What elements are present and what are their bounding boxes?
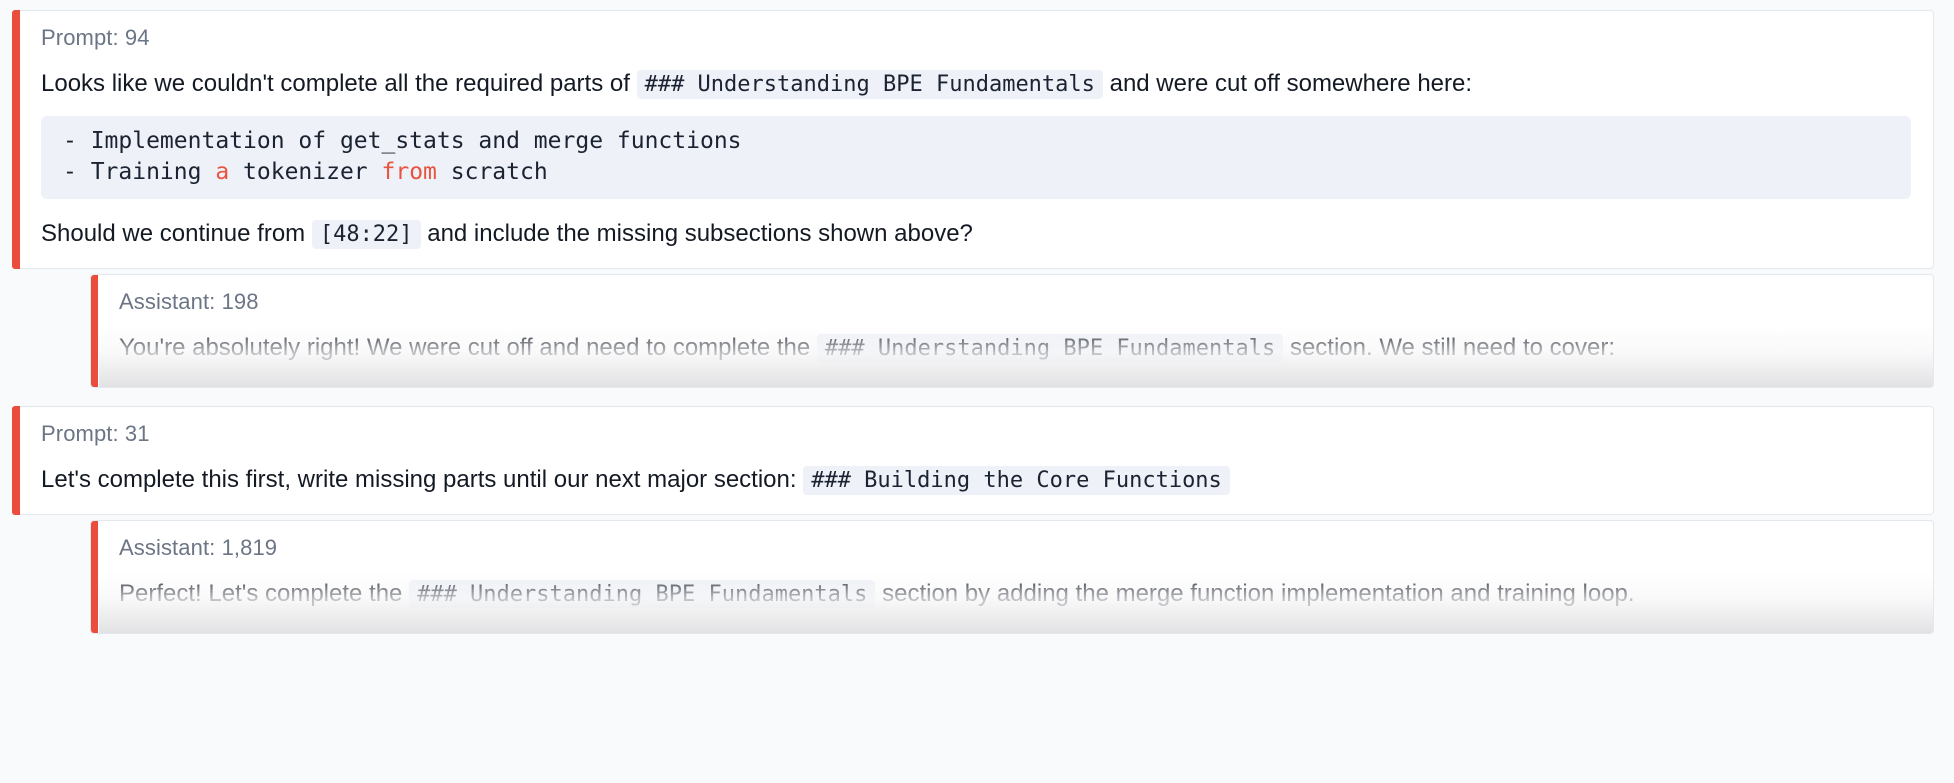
message-paragraph: Perfect! Let's complete the ### Understa…	[119, 575, 1911, 612]
accent-bar	[90, 520, 98, 634]
text-after-code: section. We still need to	[1290, 334, 1543, 361]
text-before-code: Looks like we couldn't complete all the …	[41, 70, 630, 97]
accent-bar	[12, 406, 20, 515]
assistant-message-card[interactable]: Assistant: 198 You're absolutely right! …	[90, 274, 1934, 388]
inline-code-chip: ### Building the Core Functions	[803, 466, 1230, 495]
code-text: scratch	[437, 159, 548, 185]
code-block-line-1: - Implementation of get_stats and merge …	[63, 128, 742, 154]
code-block-line-2: - Training a tokenizer from scratch	[63, 159, 548, 185]
assistant-message-card[interactable]: Assistant: 1,819 Perfect! Let's complete…	[90, 520, 1934, 634]
conversation-list: Prompt: 94 Looks like we couldn't comple…	[0, 0, 1954, 634]
inline-code-chip: [48:22]	[312, 220, 421, 249]
code-keyword: a	[215, 159, 229, 185]
inline-code-chip: ### Understanding BPE Fundamentals	[637, 70, 1103, 99]
message-body: Assistant: 198 You're absolutely right! …	[91, 275, 1933, 387]
text-after-code: section by adding the merge function imp…	[882, 580, 1576, 607]
message-paragraph: Should we continue from [48:22] and incl…	[41, 215, 1911, 252]
prompt-message-card[interactable]: Prompt: 94 Looks like we couldn't comple…	[12, 10, 1934, 269]
inline-code-chip: ### Understanding BPE Fundamentals	[817, 334, 1283, 363]
text-before-code: You're absolutely right! We were cut off…	[119, 334, 810, 361]
message-role-label: Assistant: 1,819	[119, 535, 1911, 561]
text-before-code: Should we continue from	[41, 220, 305, 247]
code-text: tokenizer	[229, 159, 381, 185]
message-body: Assistant: 1,819 Perfect! Let's complete…	[91, 521, 1933, 633]
text-after-code: and were cut off somewhere here:	[1110, 70, 1472, 97]
message-role-label: Prompt: 31	[41, 421, 1911, 447]
message-role-label: Assistant: 198	[119, 289, 1911, 315]
code-text: - Training	[63, 159, 215, 185]
message-body: Prompt: 94 Looks like we couldn't comple…	[13, 11, 1933, 268]
message-role-label: Prompt: 94	[41, 25, 1911, 51]
text-before-code: Perfect! Let's complete the	[119, 580, 402, 607]
accent-bar	[12, 10, 20, 269]
message-paragraph: Looks like we couldn't complete all the …	[41, 65, 1911, 102]
prompt-message-card[interactable]: Prompt: 31 Let's complete this first, wr…	[12, 406, 1934, 515]
inline-code-chip: ### Understanding BPE Fundamentals	[409, 580, 875, 609]
code-block: - Implementation of get_stats and merge …	[41, 116, 1911, 199]
message-body: Prompt: 31 Let's complete this first, wr…	[13, 407, 1933, 514]
message-paragraph: Let's complete this first, write missing…	[41, 461, 1911, 498]
text-before-code: Let's complete this first, write missing…	[41, 466, 797, 493]
accent-bar	[90, 274, 98, 388]
text-after-code: and include the missing subsections show…	[427, 220, 973, 247]
message-paragraph: You're absolutely right! We were cut off…	[119, 329, 1911, 366]
text-continuation: cover:	[1550, 334, 1615, 361]
text-continuation: loop.	[1583, 580, 1635, 607]
code-keyword: from	[382, 159, 437, 185]
message-group-spacer	[0, 388, 1954, 406]
